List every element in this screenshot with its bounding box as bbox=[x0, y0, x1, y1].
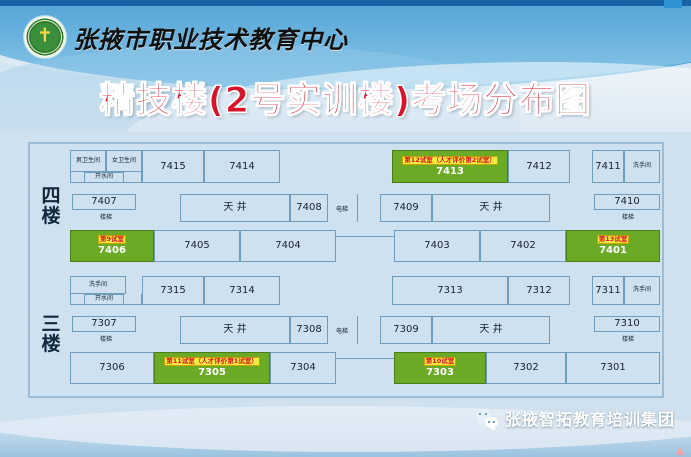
room-male-restroom-4f[interactable]: 男卫生间 bbox=[70, 150, 106, 172]
room-water-room-3f[interactable]: 开水间 bbox=[84, 294, 124, 305]
room-7312[interactable]: 7312 bbox=[508, 276, 570, 305]
stairs-label-4f-left: 楼梯 bbox=[84, 212, 128, 221]
room-corner-3f bbox=[126, 276, 142, 294]
stairs-label-3f-right: 楼梯 bbox=[606, 334, 650, 343]
room-7411[interactable]: 7411 bbox=[592, 150, 624, 183]
room-7308[interactable]: 7308 bbox=[290, 316, 328, 344]
exam-room-badge: 第9试室 bbox=[98, 235, 126, 244]
page-header-banner: ✝ 张掖市职业技术教育中心 精技楼(2号实训楼)考场分布图 bbox=[0, 0, 691, 132]
room-female-restroom-4f[interactable]: 女卫生间 bbox=[106, 150, 142, 172]
room-number: 7305 bbox=[198, 367, 226, 379]
room-water-room-4f[interactable]: 开水间 bbox=[84, 172, 124, 183]
atrium-3f-left[interactable]: 天 井 bbox=[180, 316, 290, 344]
header-top-notch bbox=[664, 0, 682, 8]
room-7415[interactable]: 7415 bbox=[142, 150, 204, 183]
room-gap-4f-b bbox=[570, 150, 592, 183]
room-7315[interactable]: 7315 bbox=[142, 276, 204, 305]
school-name: 张掖市职业技术教育中心 bbox=[73, 20, 348, 55]
stairs-label-3f-left: 楼梯 bbox=[84, 334, 128, 343]
wechat-icon bbox=[475, 409, 498, 428]
header-top-rule bbox=[0, 0, 691, 6]
room-7306[interactable]: 7306 bbox=[70, 352, 154, 384]
corridor-link-4f bbox=[336, 236, 394, 256]
room-7403[interactable]: 7403 bbox=[394, 230, 480, 262]
room-7307[interactable]: 7307 bbox=[72, 316, 136, 332]
room-7401[interactable]: 第13试室 7401 bbox=[566, 230, 660, 262]
room-7408[interactable]: 7408 bbox=[290, 194, 328, 222]
exam-room-badge: 第12试室（人才评价第2试室） bbox=[402, 156, 498, 165]
atrium-4f-right[interactable]: 天 井 bbox=[432, 194, 550, 222]
elevator-shaft-3f bbox=[328, 316, 358, 344]
room-restroom-right-4f[interactable]: 洗手间 bbox=[624, 150, 660, 183]
brand-name: 张掖智拓教育培训集团 bbox=[505, 406, 675, 430]
corridor-link-3f bbox=[336, 358, 394, 378]
room-7406[interactable]: 第9试室 7406 bbox=[70, 230, 154, 262]
school-emblem-icon: ✝ bbox=[24, 16, 66, 58]
page-title: 精技楼(2号实训楼)考场分布图 bbox=[0, 72, 691, 123]
room-restroom-3f[interactable]: 洗手间 bbox=[70, 276, 126, 294]
exam-room-badge: 第10试室 bbox=[424, 357, 457, 366]
room-number: 7401 bbox=[599, 245, 627, 257]
school-identity: ✝ 张掖市职业技术教育中心 bbox=[24, 16, 348, 58]
room-7413[interactable]: 第12试室（人才评价第2试室） 7413 bbox=[392, 150, 508, 183]
room-gap-4f-a bbox=[280, 150, 392, 183]
room-number: 7413 bbox=[436, 166, 464, 178]
room-7405[interactable]: 7405 bbox=[154, 230, 240, 262]
floor-4-rooms: 男卫生间 女卫生间 开水间 7415 7414 第12试室（人才评价第2试室） … bbox=[70, 150, 660, 262]
floor-label-3: 三楼 bbox=[36, 314, 66, 354]
room-7409[interactable]: 7409 bbox=[380, 194, 432, 222]
exam-room-badge: 第13试室 bbox=[597, 235, 630, 244]
room-7309[interactable]: 7309 bbox=[380, 316, 432, 344]
brand-watermark: 张掖智拓教育培训集团 bbox=[475, 406, 675, 430]
room-7402[interactable]: 7402 bbox=[480, 230, 566, 262]
room-7305[interactable]: 第11试室（人才评价第1试室） 7305 bbox=[154, 352, 270, 384]
room-number: 7406 bbox=[98, 245, 126, 257]
footer-corner-marker bbox=[675, 447, 685, 455]
stairs-label-4f-right: 楼梯 bbox=[606, 212, 650, 221]
room-corridor-stub2-4f bbox=[124, 172, 142, 183]
room-7304[interactable]: 7304 bbox=[270, 352, 336, 384]
room-corridor-stub-3f bbox=[70, 294, 84, 305]
atrium-3f-right[interactable]: 天 井 bbox=[432, 316, 550, 344]
floor-3-rooms: 洗手间 开水间 7315 7314 7313 7312 7311 洗手间 730 bbox=[70, 276, 660, 388]
room-7302[interactable]: 7302 bbox=[486, 352, 566, 384]
room-7407[interactable]: 7407 bbox=[72, 194, 136, 210]
room-corridor-stub-4f bbox=[70, 172, 84, 183]
atrium-4f-left[interactable]: 天 井 bbox=[180, 194, 290, 222]
emblem-bird-icon: ✝ bbox=[37, 27, 53, 46]
room-7410[interactable]: 7410 bbox=[594, 194, 660, 210]
room-7310[interactable]: 7310 bbox=[594, 316, 660, 332]
room-gap-3f-a bbox=[280, 276, 392, 305]
room-7404[interactable]: 7404 bbox=[240, 230, 336, 262]
room-7314[interactable]: 7314 bbox=[204, 276, 280, 305]
room-7313[interactable]: 7313 bbox=[392, 276, 508, 305]
elevator-shaft-4f bbox=[328, 194, 358, 222]
exam-room-badge: 第11试室（人才评价第1试室） bbox=[164, 357, 260, 366]
room-7301[interactable]: 7301 bbox=[566, 352, 660, 384]
room-7311[interactable]: 7311 bbox=[592, 276, 624, 305]
page-footer: 张掖智拓教育培训集团 bbox=[0, 398, 691, 457]
room-corridor-stub2-3f bbox=[124, 294, 142, 305]
floor-plan-diagram: 四楼 三楼 男卫生间 女卫生间 开水间 7415 7414 第12试室（人才评价… bbox=[28, 142, 664, 398]
room-7412[interactable]: 7412 bbox=[508, 150, 570, 183]
floor-label-4: 四楼 bbox=[36, 186, 66, 226]
room-gap-3f-b bbox=[570, 276, 592, 305]
room-7414[interactable]: 7414 bbox=[204, 150, 280, 183]
room-7303[interactable]: 第10试室 7303 bbox=[394, 352, 486, 384]
room-restroom-right-3f[interactable]: 洗手间 bbox=[624, 276, 660, 305]
room-number: 7303 bbox=[426, 367, 454, 379]
